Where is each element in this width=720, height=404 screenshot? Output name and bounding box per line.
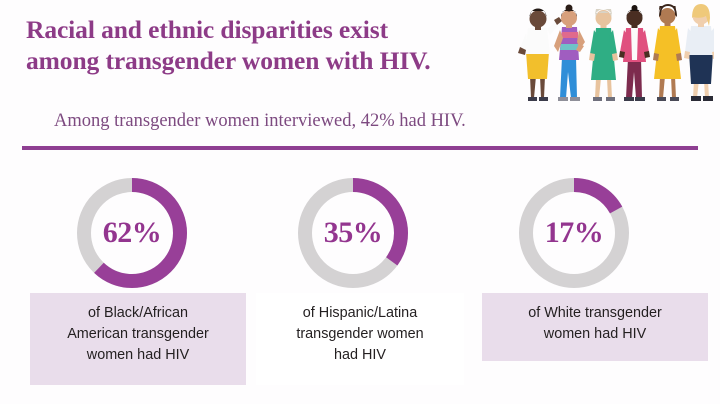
woman-6 xyxy=(684,4,714,101)
donut-chart-row: 62% 35% 17% xyxy=(0,170,720,298)
donut-value-label: 17% xyxy=(511,170,637,296)
page-subtitle: Among transgender women interviewed, 42%… xyxy=(54,110,466,132)
caption-white: of White transgender women had HIV xyxy=(482,293,708,361)
donut-hispanic-latina: 35% xyxy=(290,170,416,296)
header-divider xyxy=(22,146,698,150)
header: Racial and ethnic disparities exist amon… xyxy=(0,0,720,148)
donut-black-african-american: 62% xyxy=(69,170,195,296)
infographic-page: Racial and ethnic disparities exist amon… xyxy=(0,0,720,404)
caption-line: of Black/African xyxy=(36,303,240,324)
caption-line: of White transgender xyxy=(488,303,702,324)
six-diverse-women-illustration xyxy=(514,2,714,108)
woman-4 xyxy=(619,5,650,101)
donut-white: 17% xyxy=(511,170,637,296)
woman-3 xyxy=(589,9,618,101)
caption-line: transgender women xyxy=(262,324,458,345)
caption-hispanic-latina: of Hispanic/Latina transgender women had… xyxy=(256,293,464,385)
caption-black-african-american: of Black/African American transgender wo… xyxy=(30,293,246,385)
page-title-line-2: among transgender women with HIV. xyxy=(26,45,496,76)
page-title-line-1: Racial and ethnic disparities exist xyxy=(26,14,496,45)
woman-1 xyxy=(518,9,562,102)
donut-value-label: 35% xyxy=(290,170,416,296)
woman-5 xyxy=(653,4,682,101)
caption-line: American transgender xyxy=(36,324,240,345)
caption-line: had HIV xyxy=(262,345,458,366)
caption-line: of Hispanic/Latina xyxy=(262,303,458,324)
page-title: Racial and ethnic disparities exist amon… xyxy=(26,14,496,76)
caption-line: women had HIV xyxy=(488,324,702,345)
donut-value-label: 62% xyxy=(69,170,195,296)
caption-row: of Black/African American transgender wo… xyxy=(0,293,720,389)
caption-line: women had HIV xyxy=(36,345,240,366)
